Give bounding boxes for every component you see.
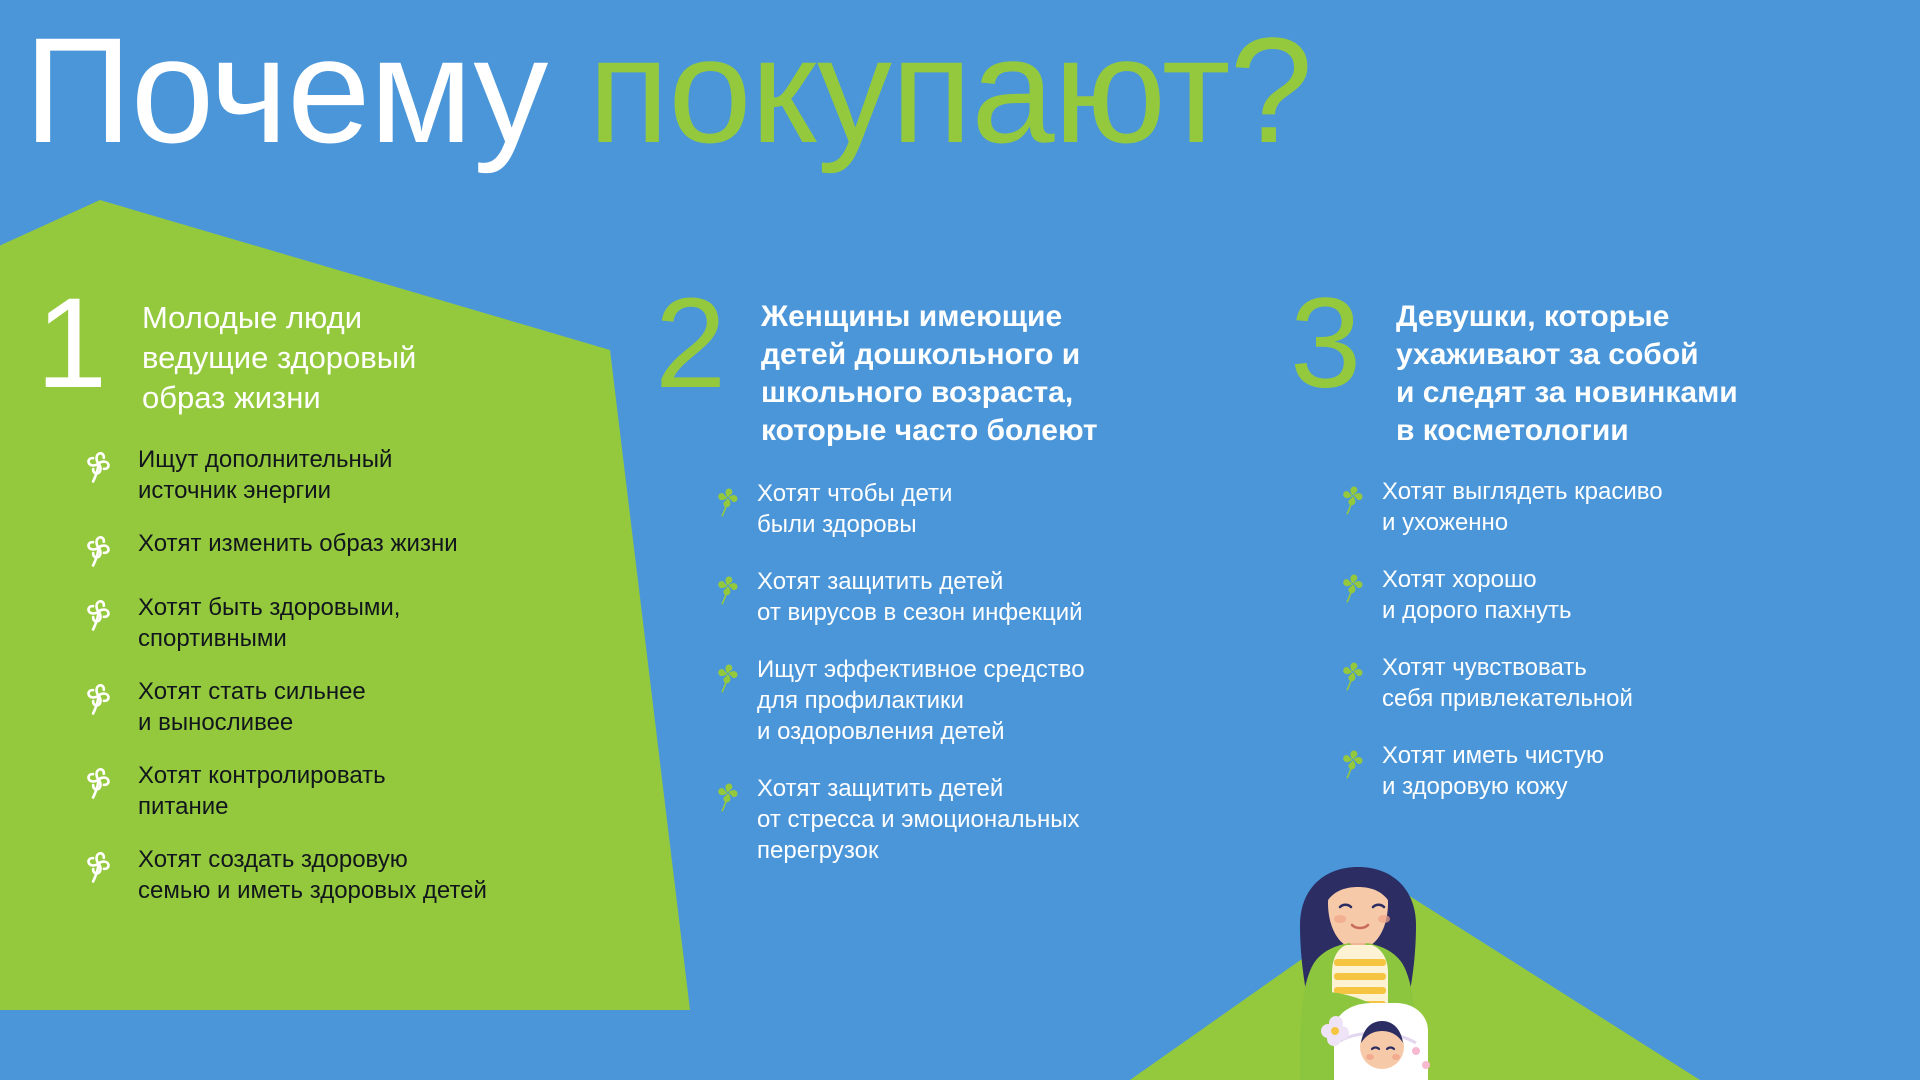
mother-holding-baby-illustration [1230,855,1490,1080]
heading-line: ведущие здоровый [142,338,416,378]
heading-line: Женщины имеющие [761,298,1098,336]
clover-icon [711,775,757,815]
page-title: Почему покупают? [24,14,1312,167]
column-2-number: 2 [655,292,761,396]
clover-icon [1336,478,1382,518]
clover-icon [711,568,757,608]
column-2: 2 Женщины имеющие детей дошкольного и шк… [655,292,1265,892]
infographic-poster: Почему покупают? 1 Молодые люди ведущие … [0,0,1920,1080]
heading-line: детей дошкольного и [761,336,1098,374]
column-3-list: Хотят выглядеть красиво и ухоженно Хотят… [1336,476,1890,802]
list-item: Хотят иметь чистую и здоровую кожу [1336,740,1890,802]
list-item-text: Хотят чтобы дети были здоровы [757,478,952,540]
list-item: Хотят изменить образ жизни [82,528,656,570]
page-title-green: покупают? [588,6,1312,174]
list-item-text: Хотят хорошо и дорого пахнуть [1382,564,1571,626]
heading-line: ухаживают за собой [1396,336,1738,374]
clover-icon [711,656,757,696]
column-2-list: Хотят чтобы дети были здоровы Хотят защи… [711,478,1265,866]
list-item-text: Хотят изменить образ жизни [138,528,458,559]
clover-icon [711,480,757,520]
list-item: Хотят контролировать питание [82,760,656,822]
clover-icon [82,594,138,634]
column-3-heading: Девушки, которые ухаживают за собой и сл… [1396,292,1738,450]
column-1: 1 Молодые люди ведущие здоровый образ жи… [36,292,656,928]
list-item: Хотят выглядеть красиво и ухоженно [1336,476,1890,538]
column-1-number: 1 [36,292,142,396]
list-item: Хотят чувствовать себя привлекательной [1336,652,1890,714]
heading-line: в косметологии [1396,412,1738,450]
column-3-number: 3 [1290,292,1396,396]
heading-line: школьного возраста, [761,374,1098,412]
list-item: Хотят стать сильнее и выносливее [82,676,656,738]
column-1-header: 1 Молодые люди ведущие здоровый образ жи… [36,292,656,418]
list-item: Хотят чтобы дети были здоровы [711,478,1265,540]
list-item-text: Хотят контролировать питание [138,760,386,822]
list-item-text: Ищут дополнительный источник энергии [138,444,392,506]
list-item: Хотят хорошо и дорого пахнуть [1336,564,1890,626]
clover-icon [1336,654,1382,694]
list-item-text: Хотят быть здоровыми, спортивными [138,592,400,654]
column-2-heading: Женщины имеющие детей дошкольного и школ… [761,292,1098,450]
heading-line: Девушки, которые [1396,298,1738,336]
list-item: Хотят защитить детей от вирусов в сезон … [711,566,1265,628]
page-title-white: Почему [24,6,547,174]
column-2-header: 2 Женщины имеющие детей дошкольного и шк… [655,292,1265,450]
list-item-text: Ищут эффективное средство для профилакти… [757,654,1085,747]
list-item: Хотят защитить детей от стресса и эмоцио… [711,773,1265,866]
list-item-text: Хотят защитить детей от стресса и эмоцио… [757,773,1079,866]
column-3: 3 Девушки, которые ухаживают за собой и … [1290,292,1890,828]
list-item-text: Хотят создать здоровую семью и иметь здо… [138,844,487,906]
list-item: Ищут эффективное средство для профилакти… [711,654,1265,747]
heading-line: которые часто болеют [761,412,1098,450]
heading-line: Молодые люди [142,298,416,338]
heading-line: и следят за новинками [1396,374,1738,412]
clover-icon [82,762,138,802]
clover-icon [82,846,138,886]
list-item-text: Хотят выглядеть красиво и ухоженно [1382,476,1663,538]
heading-line: образ жизни [142,378,416,418]
list-item: Хотят быть здоровыми, спортивными [82,592,656,654]
list-item-text: Хотят чувствовать себя привлекательной [1382,652,1633,714]
clover-icon [1336,566,1382,606]
clover-icon [1336,742,1382,782]
list-item-text: Хотят защитить детей от вирусов в сезон … [757,566,1083,628]
column-3-header: 3 Девушки, которые ухаживают за собой и … [1290,292,1890,450]
list-item-text: Хотят стать сильнее и выносливее [138,676,366,738]
clover-icon [82,530,138,570]
column-1-list: Ищут дополнительный источник энергии Хот… [82,444,656,906]
list-item-text: Хотят иметь чистую и здоровую кожу [1382,740,1604,802]
list-item: Ищут дополнительный источник энергии [82,444,656,506]
clover-icon [82,678,138,718]
list-item: Хотят создать здоровую семью и иметь здо… [82,844,656,906]
clover-icon [82,446,138,486]
column-1-heading: Молодые люди ведущие здоровый образ жизн… [142,292,416,418]
